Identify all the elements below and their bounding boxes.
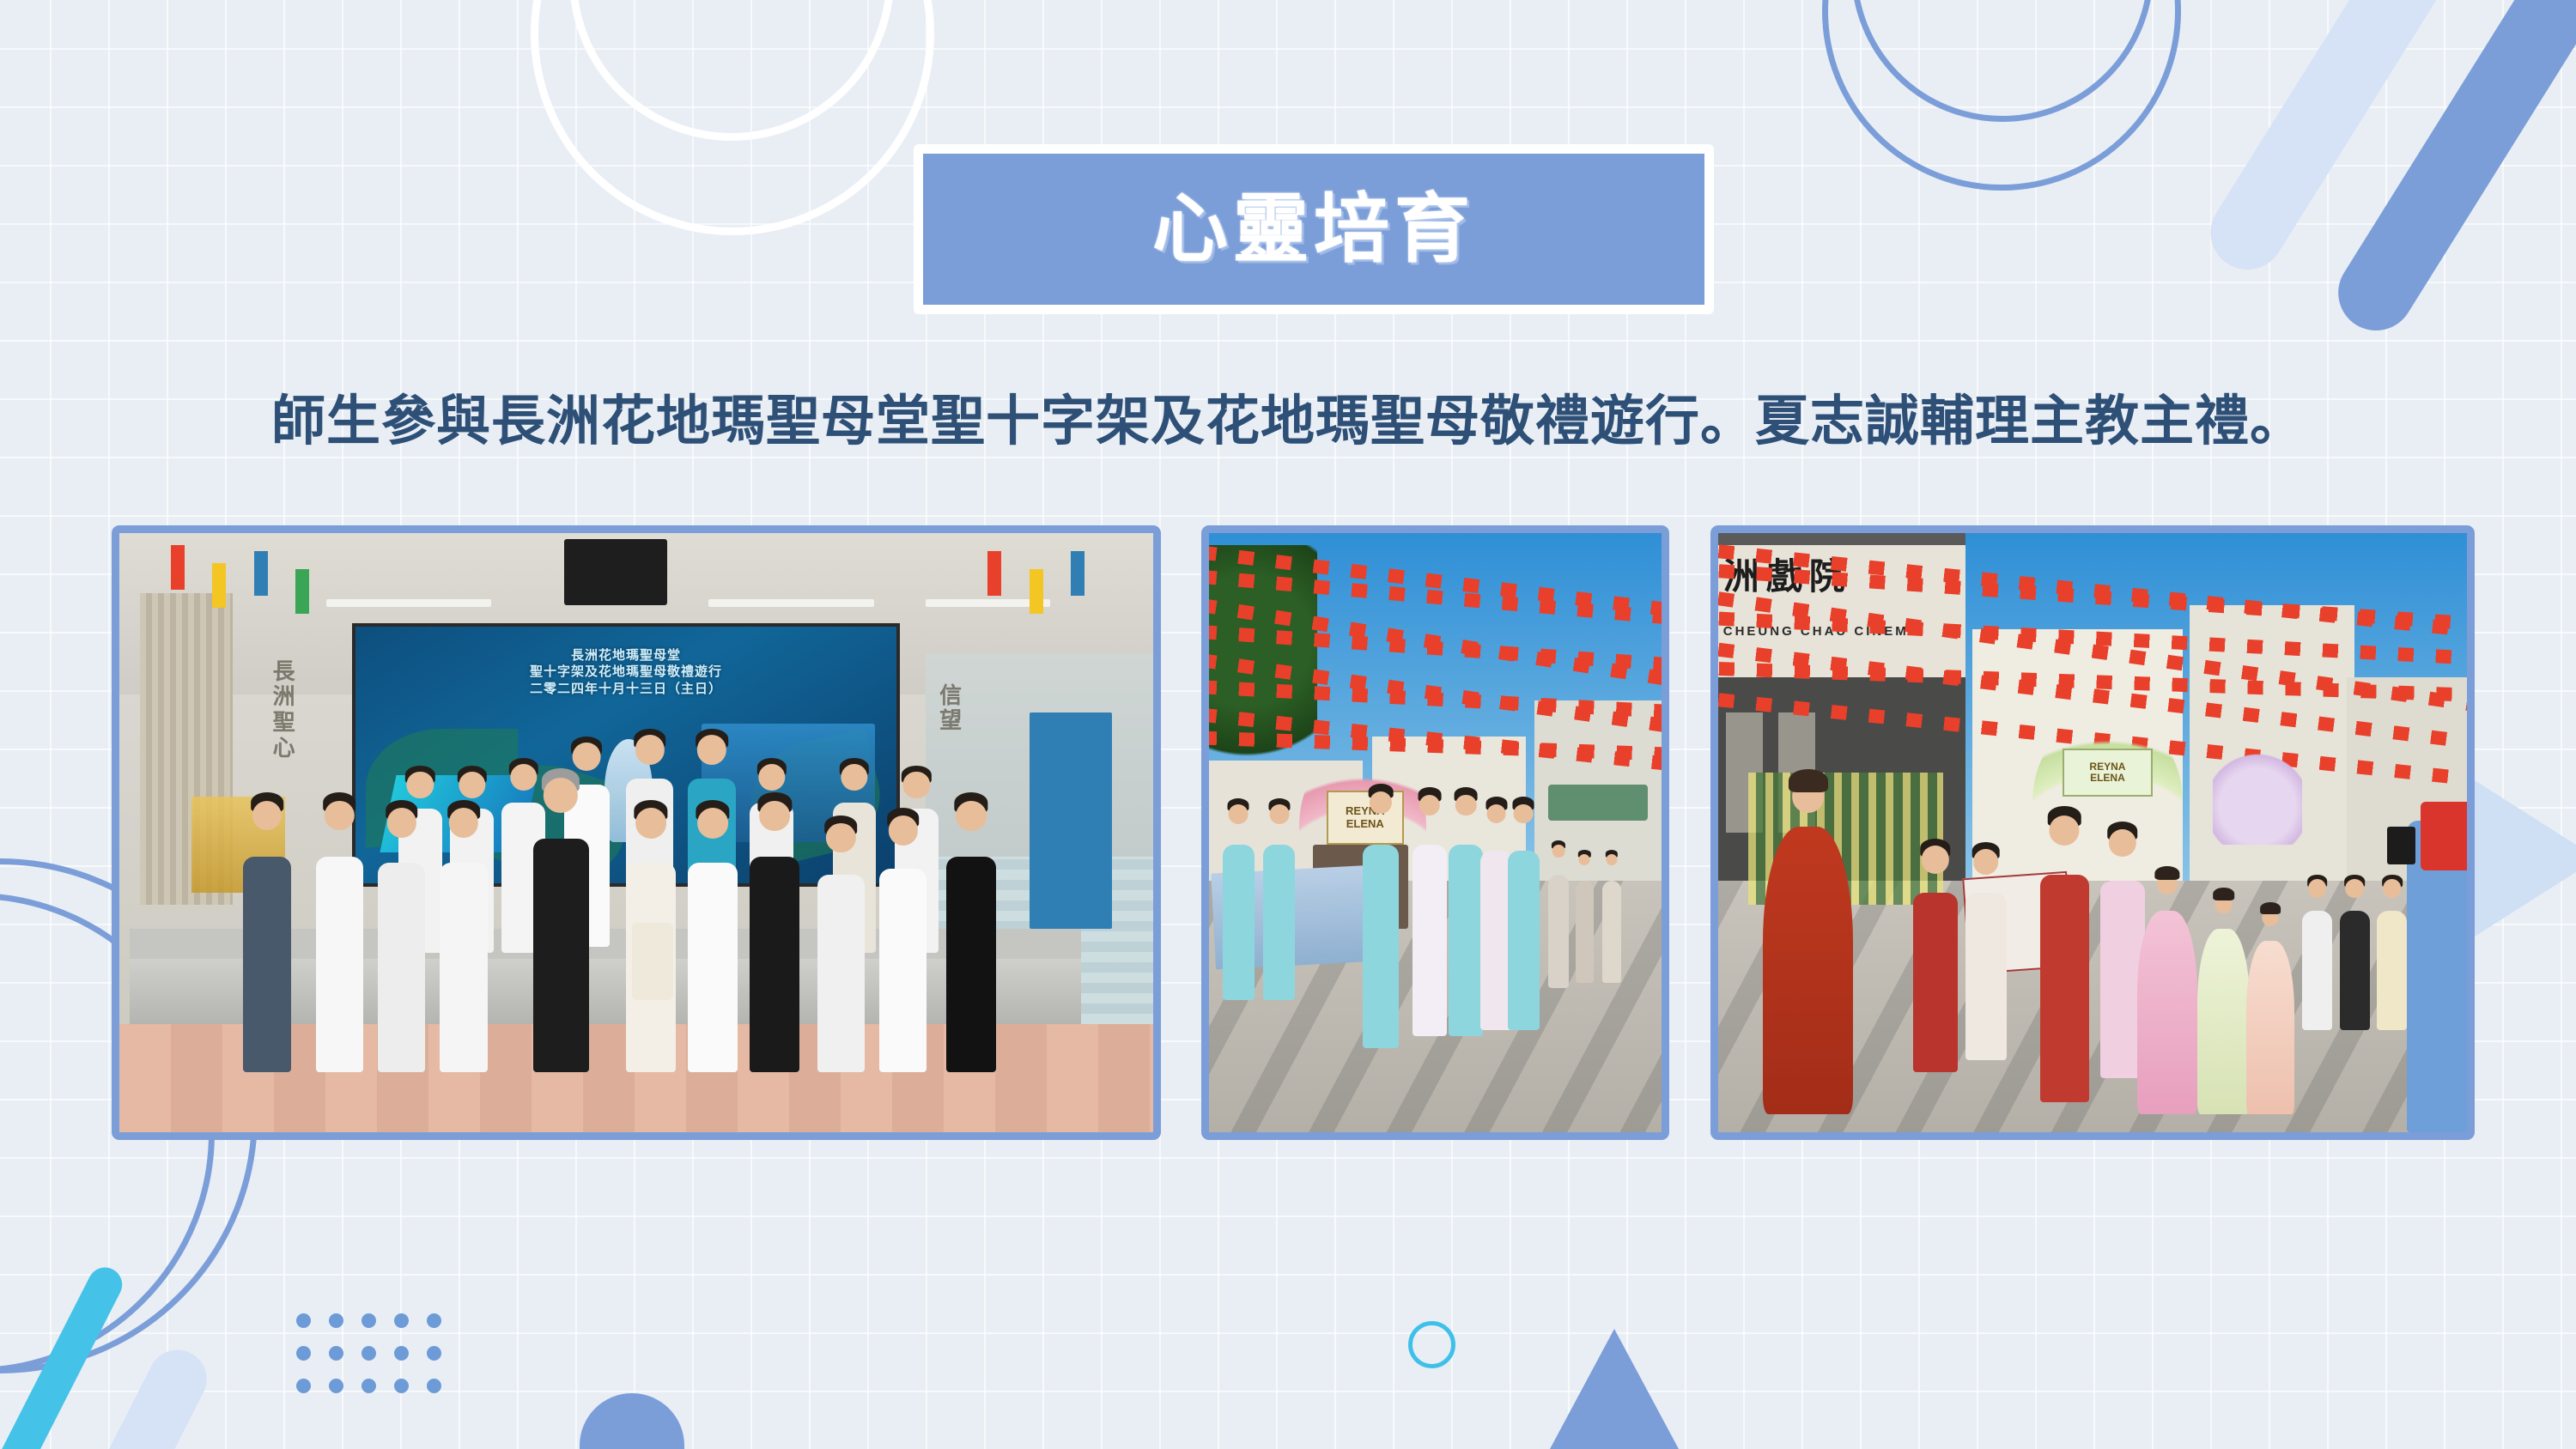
- person-figure: [817, 875, 865, 1072]
- page-title: 心靈培育: [1152, 191, 1475, 267]
- float-sign-line-1: REYNA: [2089, 761, 2125, 773]
- bunting-flag: [1071, 551, 1084, 596]
- float-sign: REYNA ELENA: [1327, 791, 1404, 845]
- person-figure: [750, 857, 799, 1072]
- bunting-flag: [212, 563, 226, 608]
- title-banner-inner: 心靈培育: [923, 154, 1704, 305]
- person-gown-red: [1763, 827, 1853, 1114]
- backpack-icon: [632, 923, 673, 1001]
- title-banner: 心靈培育: [914, 144, 1714, 314]
- person-figure: [1965, 893, 2007, 1060]
- bunting-flag: [1030, 569, 1043, 614]
- bunting-flag: [254, 551, 268, 596]
- photo-gallery: 長洲花地瑪聖母堂 聖十字架及花地瑪聖母敬禮遊行 二零二四年十月十三日（主日） 長…: [112, 525, 2475, 1140]
- screen-line-1: 長洲花地瑪聖母堂: [355, 647, 896, 664]
- person-figure: [1449, 845, 1483, 1036]
- float-sign: REYNA ELENA: [2063, 749, 2153, 797]
- person-camera-operator: [2407, 821, 2467, 1132]
- photo-image-procession-cinema: 洲戲院 CHEUNG CHAU CINEMA REY: [1718, 533, 2467, 1132]
- person-figure: [440, 863, 487, 1072]
- ceiling-light-icon: [326, 599, 492, 607]
- person-figure: [378, 863, 425, 1072]
- person-figure: [1913, 893, 1958, 1072]
- person-gown-peach: [2246, 941, 2295, 1114]
- person-figure: [2340, 911, 2370, 1031]
- person-figure: [316, 857, 363, 1072]
- screen-line-3: 二零二四年十月十三日（主日）: [355, 681, 896, 698]
- projection-screen-text: 長洲花地瑪聖母堂 聖十字架及花地瑪聖母敬禮遊行 二零二四年十月十三日（主日）: [355, 647, 896, 698]
- photo-card-procession-cinema[interactable]: 洲戲院 CHEUNG CHAU CINEMA REY: [1710, 525, 2475, 1140]
- person-figure: [879, 869, 927, 1072]
- wall-characters-left: 長洲聖心: [270, 659, 299, 762]
- ceiling-light-icon: [708, 599, 874, 607]
- wall-characters-right: 信望: [936, 683, 965, 735]
- flower-arch: [2032, 712, 2182, 892]
- person-figure: [1263, 845, 1295, 1000]
- float-sign-line-2: ELENA: [1346, 817, 1384, 830]
- person-figure: [688, 863, 738, 1072]
- bunting-flag: [987, 551, 1001, 596]
- person-figure: [1413, 845, 1447, 1036]
- blue-door: [1030, 712, 1112, 928]
- bunting-flag: [171, 545, 185, 590]
- person-figure: [1363, 845, 1399, 1048]
- person-bishop-figure: [533, 839, 589, 1072]
- photo-image-procession-street: REYNA ELENA: [1209, 533, 1662, 1132]
- person-gown-pink: [2137, 911, 2197, 1114]
- person-figure: [1602, 881, 1620, 983]
- person-gown-green: [2197, 929, 2250, 1114]
- bunting-flag: [295, 569, 309, 614]
- photo-card-group-photo[interactable]: 長洲花地瑪聖母堂 聖十字架及花地瑪聖母敬禮遊行 二零二四年十月十三日（主日） 長…: [112, 525, 1161, 1140]
- person-figure: [243, 857, 290, 1072]
- person-figure: [1508, 851, 1540, 1030]
- person-figure: [2040, 875, 2089, 1102]
- photo-image-group-photo: 長洲花地瑪聖母堂 聖十字架及花地瑪聖母敬禮遊行 二零二四年十月十三日（主日） 長…: [119, 533, 1153, 1132]
- person-figure: [1223, 845, 1255, 1000]
- subtitle-text: 師生參與長洲花地瑪聖母堂聖十字架及花地瑪聖母敬禮遊行。夏志誠輔理主教主禮。: [0, 378, 2576, 456]
- projector-icon: [564, 539, 667, 605]
- photo-card-procession-street[interactable]: REYNA ELENA: [1201, 525, 1669, 1140]
- person-figure: [1548, 875, 1569, 989]
- person-figure: [2302, 911, 2332, 1031]
- float-sign-line-2: ELENA: [2090, 772, 2125, 784]
- flower-decoration: [2213, 749, 2303, 845]
- screen-line-2: 聖十字架及花地瑪聖母敬禮遊行: [355, 664, 896, 681]
- person-figure: [1576, 881, 1594, 983]
- person-figure: [946, 857, 996, 1072]
- person-figure: [2377, 911, 2407, 1031]
